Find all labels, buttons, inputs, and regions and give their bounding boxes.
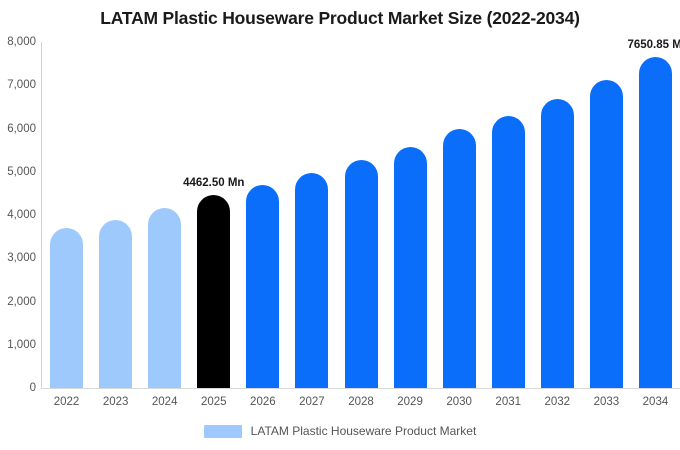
bar[interactable] xyxy=(541,99,574,388)
x-axis-tick-label: 2026 xyxy=(250,396,276,408)
x-axis-tick-label: 2034 xyxy=(643,396,669,408)
x-axis-tick-label: 2029 xyxy=(397,396,423,408)
bar[interactable] xyxy=(590,80,623,388)
y-axis-tick-label: 1,000 xyxy=(0,339,36,351)
x-axis-tick-label: 2025 xyxy=(201,396,227,408)
x-axis-tick-label: 2032 xyxy=(545,396,571,408)
bar[interactable] xyxy=(345,160,378,388)
y-axis-tick-label: 6,000 xyxy=(0,123,36,135)
legend-item-label: LATAM Plastic Houseware Product Market xyxy=(251,424,477,438)
bar[interactable] xyxy=(197,195,230,388)
legend-color-swatch xyxy=(204,425,242,438)
bar[interactable] xyxy=(639,57,672,388)
x-axis-tick-label: 2033 xyxy=(594,396,620,408)
bar[interactable] xyxy=(394,147,427,388)
x-axis-tick-label: 2031 xyxy=(495,396,521,408)
bar[interactable] xyxy=(99,220,132,388)
legend-item[interactable]: LATAM Plastic Houseware Product Market xyxy=(204,424,477,438)
x-axis-tick-label: 2023 xyxy=(103,396,129,408)
y-axis-tick-label: 2,000 xyxy=(0,296,36,308)
x-axis-tick-label: 2022 xyxy=(54,396,80,408)
bar-chart: LATAM Plastic Houseware Product Market S… xyxy=(0,0,680,450)
bar[interactable] xyxy=(50,228,83,388)
bar[interactable] xyxy=(492,116,525,388)
x-axis-tick-labels: 2022202320242025202620272028202920302031… xyxy=(42,396,680,416)
y-axis-tick-label: 3,000 xyxy=(0,252,36,264)
bar[interactable] xyxy=(246,185,279,388)
bar[interactable] xyxy=(148,208,181,388)
x-axis-tick-label: 2028 xyxy=(348,396,374,408)
x-axis-tick-label: 2030 xyxy=(446,396,472,408)
x-axis-tick-label: 2024 xyxy=(152,396,178,408)
y-axis-tick-label: 0 xyxy=(0,382,36,394)
bar[interactable] xyxy=(443,129,476,388)
y-axis-tick-label: 7,000 xyxy=(0,79,36,91)
chart-legend: LATAM Plastic Houseware Product Market xyxy=(0,424,680,438)
y-axis-tick-label: 4,000 xyxy=(0,209,36,221)
bar-value-label: 4462.50 Mn xyxy=(183,177,244,189)
bar[interactable] xyxy=(295,173,328,388)
y-axis-tick-label: 5,000 xyxy=(0,166,36,178)
x-axis-line xyxy=(41,388,680,389)
bars-layer xyxy=(42,42,680,388)
bar-value-label: 7650.85 Mn xyxy=(627,39,680,51)
x-axis-tick-label: 2027 xyxy=(299,396,325,408)
y-axis-tick-label: 8,000 xyxy=(0,36,36,48)
